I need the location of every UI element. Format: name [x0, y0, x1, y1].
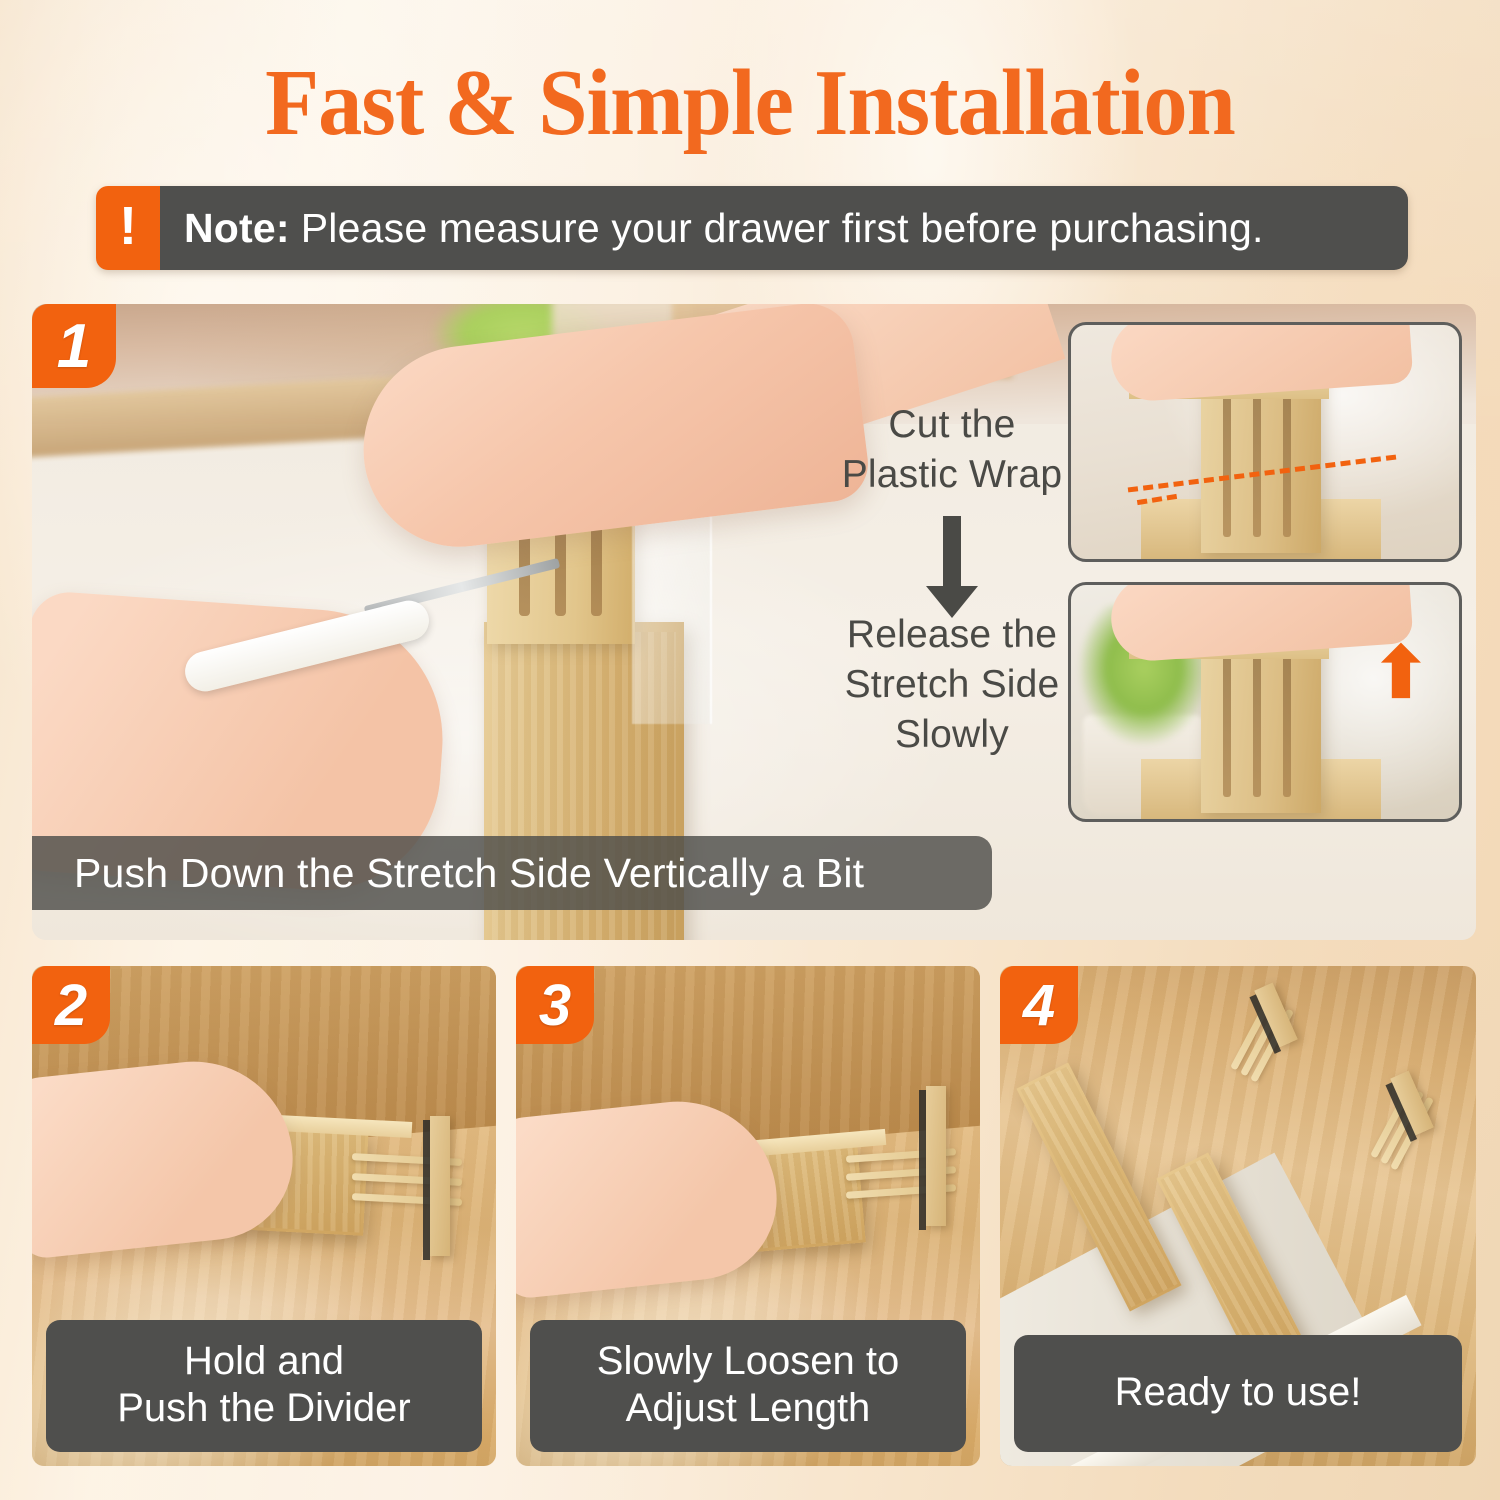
step-3-caption-line-1: Slowly Loosen to — [540, 1338, 956, 1385]
rail-slot — [1223, 647, 1231, 797]
step-3-caption: Slowly Loosen to Adjust Length — [530, 1320, 966, 1452]
step-3-caption-line-2: Adjust Length — [540, 1385, 956, 1432]
hand — [1108, 582, 1413, 663]
step-4-caption-line-1: Ready to use! — [1024, 1369, 1452, 1416]
step-2-caption-line-2: Push the Divider — [56, 1385, 472, 1432]
hand — [1108, 322, 1413, 403]
rail-slot — [1223, 387, 1231, 537]
exclamation-glyph: ! — [119, 199, 137, 253]
page-title: Fast & Simple Installation — [45, 56, 1455, 150]
note-message: Please measure your drawer first before … — [301, 205, 1264, 252]
rail-slot — [1283, 387, 1291, 537]
steps-row-2: 2 Hold and Push the Divider 3 — [32, 966, 1476, 1466]
divider-rails — [1201, 633, 1321, 813]
rail-slot — [1253, 387, 1261, 537]
step-1-flow-text: Cut the Plastic Wrap Release the Stretch… — [802, 400, 1102, 760]
cut-the-plastic-wrap-inset — [1068, 322, 1462, 562]
step-3-panel: 3 Slowly Loosen to Adjust Length — [516, 966, 980, 1466]
release-the-stretch-side-inset: ⬆ — [1068, 582, 1462, 822]
step-1-badge: 1 — [32, 304, 116, 388]
note-banner: ! Note: Please measure your drawer first… — [96, 186, 1408, 270]
exclamation-icon: ! — [96, 186, 160, 270]
step-2-caption-line-1: Hold and — [56, 1338, 472, 1385]
step-1-caption: Push Down the Stretch Side Vertically a … — [32, 836, 992, 910]
flow-bottom-line-2: Stretch Side — [802, 660, 1102, 710]
step-4-badge: 4 — [1000, 966, 1078, 1044]
note-label: Note: — [184, 205, 290, 252]
step-1-insets: ⬆ — [1068, 322, 1462, 822]
step-2-caption: Hold and Push the Divider — [46, 1320, 482, 1452]
step-4-caption: Ready to use! — [1014, 1335, 1462, 1452]
divider-end-cap-right — [430, 1116, 450, 1256]
divider-rails — [1201, 373, 1321, 553]
flow-top-line-2: Plastic Wrap — [802, 450, 1102, 500]
step-1-panel: 1 Cut the Plastic Wrap Release the Stret… — [32, 304, 1476, 940]
step-2-badge: 2 — [32, 966, 110, 1044]
divider-end-cap-right — [926, 1086, 946, 1226]
down-arrow-icon — [943, 516, 961, 590]
infographic-page: Fast & Simple Installation ! Note: Pleas… — [0, 0, 1500, 1500]
flow-bottom-line-3: Slowly — [802, 710, 1102, 760]
rail-slot — [1283, 647, 1291, 797]
flow-top-line-1: Cut the — [802, 400, 1102, 450]
step-3-badge: 3 — [516, 966, 594, 1044]
step-2-panel: 2 Hold and Push the Divider — [32, 966, 496, 1466]
step-4-panel: 4 Ready to use! — [1000, 966, 1476, 1466]
rail-slot — [1253, 647, 1261, 797]
note-text-container: Note: Please measure your drawer first b… — [160, 186, 1408, 270]
